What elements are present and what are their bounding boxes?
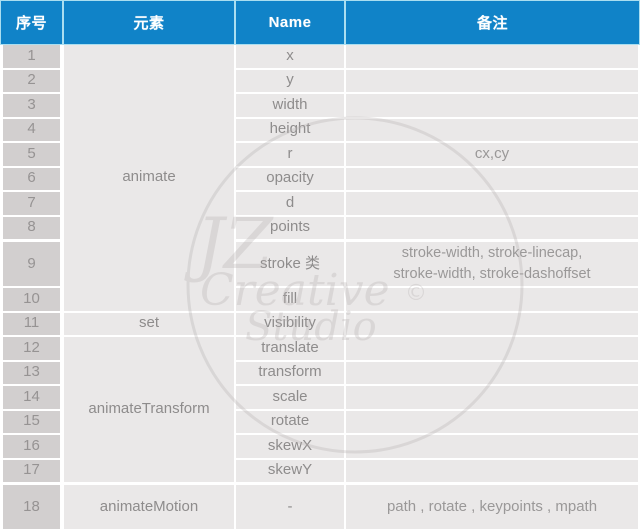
row-index-cell: 12 — [3, 337, 60, 360]
row-index-cell: 4 — [3, 119, 60, 142]
row-name-cell: scale — [236, 386, 344, 409]
row-remark-cell — [346, 70, 638, 93]
row-remark-cell — [346, 337, 638, 360]
column-header-index: 序号 — [0, 0, 63, 45]
element-group-cell: set — [64, 313, 234, 336]
row-name-cell: r — [236, 143, 344, 166]
row-remark-cell — [346, 362, 638, 385]
row-name-cell: translate — [236, 337, 344, 360]
row-index-cell: 10 — [3, 288, 60, 311]
row-name-cell: width — [236, 94, 344, 117]
element-group-cell: animateMotion — [64, 485, 234, 529]
row-index-cell: 6 — [3, 168, 60, 191]
row-remark-cell — [346, 168, 638, 191]
column-header-name: Name — [235, 0, 345, 45]
row-index-cell: 8 — [3, 217, 60, 240]
row-remark-cell — [346, 94, 638, 117]
row-remark-cell — [346, 119, 638, 142]
row-name-cell: y — [236, 70, 344, 93]
row-remark-cell: cx,cy — [346, 143, 638, 166]
row-index-cell: 3 — [3, 94, 60, 117]
row-name-cell: visibility — [236, 313, 344, 336]
row-index-cell: 5 — [3, 143, 60, 166]
row-remark-cell: stroke-width, stroke-linecap, stroke-wid… — [346, 242, 638, 286]
row-name-cell: points — [236, 217, 344, 240]
row-index-cell: 14 — [3, 386, 60, 409]
element-group-cell: animateTransform — [64, 337, 234, 482]
table-body: 1x2y3width4height5rcx,cy6opacity7d8point… — [0, 45, 640, 532]
row-index-cell: 2 — [3, 70, 60, 93]
row-name-cell: transform — [236, 362, 344, 385]
row-remark-cell — [346, 386, 638, 409]
row-name-cell: skewX — [236, 435, 344, 458]
row-index-cell: 1 — [3, 45, 60, 68]
column-header-remark: 备注 — [345, 0, 640, 45]
row-remark-cell — [346, 435, 638, 458]
row-name-cell: x — [236, 45, 344, 68]
row-remark-cell — [346, 217, 638, 240]
row-remark-cell — [346, 460, 638, 483]
row-index-cell: 18 — [3, 485, 60, 529]
row-remark-cell — [346, 411, 638, 434]
row-index-cell: 17 — [3, 460, 60, 483]
svg-animation-attribute-table: 序号 元素 Name 备注 1x2y3width4height5rcx,cy6o… — [0, 0, 640, 532]
row-remark-cell — [346, 313, 638, 336]
row-remark-cell: path , rotate , keypoints , mpath — [346, 485, 638, 529]
row-name-cell: d — [236, 192, 344, 215]
row-name-cell: stroke 类 — [236, 242, 344, 286]
table-header-row: 序号 元素 Name 备注 — [0, 0, 640, 45]
row-index-cell: 7 — [3, 192, 60, 215]
row-index-cell: 15 — [3, 411, 60, 434]
row-name-cell: fill — [236, 288, 344, 311]
remark-text: stroke-width, stroke-linecap, stroke-wid… — [393, 243, 590, 285]
row-remark-cell — [346, 45, 638, 68]
element-group-cell: animate — [64, 45, 234, 311]
row-index-cell: 9 — [3, 242, 60, 286]
row-remark-cell — [346, 288, 638, 311]
row-index-cell: 11 — [3, 313, 60, 336]
row-name-cell: height — [236, 119, 344, 142]
row-name-cell: skewY — [236, 460, 344, 483]
row-index-cell: 13 — [3, 362, 60, 385]
row-name-cell: - — [236, 485, 344, 529]
column-header-element: 元素 — [63, 0, 235, 45]
row-remark-cell — [346, 192, 638, 215]
row-name-cell: rotate — [236, 411, 344, 434]
row-index-cell: 16 — [3, 435, 60, 458]
row-name-cell: opacity — [236, 168, 344, 191]
